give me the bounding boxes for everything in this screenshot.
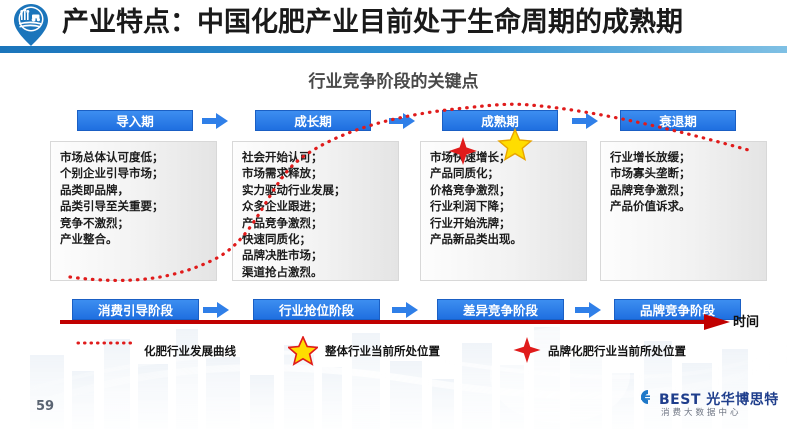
stage-arrow-1 bbox=[389, 113, 415, 129]
brand-subtitle: 消费大数据中心 bbox=[661, 406, 742, 418]
time-axis-arrow bbox=[60, 313, 732, 331]
slide-root: 产业特点：中国化肥产业目前处于生命周期的成熟期 bbox=[0, 0, 787, 429]
stage-top-1[interactable]: 成长期 bbox=[255, 110, 371, 131]
legend-red-sparkle-star-icon bbox=[512, 336, 542, 366]
stage-card-3: 行业增长放缓； 市场寡头垄断； 品牌竞争激烈； 产品价值诉求。 bbox=[600, 141, 767, 281]
farm-pin-logo-icon bbox=[8, 2, 54, 48]
stage-arrow-2 bbox=[572, 113, 598, 129]
slide-header: 产业特点：中国化肥产业目前处于生命周期的成熟期 bbox=[0, 0, 787, 46]
legend-label-0: 化肥行业发展曲线 bbox=[144, 343, 236, 359]
legend-label-2: 品牌化肥行业当前所处位置 bbox=[548, 343, 686, 359]
stage-top-2[interactable]: 成熟期 bbox=[442, 110, 558, 131]
stage-card-text-0: 市场总体认可度低； 个别企业引导市场； 品类即品牌， 品类引导至关重要； 竞争不… bbox=[60, 149, 210, 247]
stage-card-1: 社会开始认可； 市场需求释放； 实力驱动行业发展； 众多企业跟进； 产品竞争激烈… bbox=[232, 141, 399, 281]
chart-title: 行业竞争阶段的关键点 bbox=[0, 67, 787, 92]
best-mark-icon bbox=[635, 389, 659, 405]
stage-card-0: 市场总体认可度低； 个别企业引导市场； 品类即品牌， 品类引导至关重要； 竞争不… bbox=[50, 141, 217, 281]
header-divider bbox=[0, 46, 787, 53]
brand-logo: BEST 光华博思特 消费大数据中心 bbox=[635, 389, 777, 423]
page-number: 59 bbox=[36, 399, 54, 414]
page-title: 产业特点：中国化肥产业目前处于生命周期的成熟期 bbox=[62, 3, 683, 43]
legend-label-1: 整体行业当前所处位置 bbox=[325, 343, 440, 359]
stage-arrow-0 bbox=[202, 113, 228, 129]
stage-card-2: 市场快速增长； 产品同质化； 价格竞争激烈； 行业利润下降； 行业开始洗牌； 产… bbox=[420, 141, 587, 281]
time-axis-label: 时间 bbox=[733, 311, 759, 330]
stage-top-0[interactable]: 导入期 bbox=[77, 110, 193, 131]
slide-canvas: 行业竞争阶段的关键点 导入期 成长期 成熟期 衰退期 市场总体认可度低； 个别企… bbox=[0, 53, 787, 429]
legend-dotted-line-icon bbox=[76, 336, 136, 350]
stage-card-text-3: 行业增长放缓； 市场寡头垄断； 品牌竞争激烈； 产品价值诉求。 bbox=[610, 149, 760, 215]
stage-card-text-1: 社会开始认可； 市场需求释放； 实力驱动行业发展； 众多企业跟进； 产品竞争激烈… bbox=[242, 149, 392, 280]
stage-card-text-2: 市场快速增长； 产品同质化； 价格竞争激烈； 行业利润下降； 行业开始洗牌； 产… bbox=[430, 149, 580, 247]
stage-top-3[interactable]: 衰退期 bbox=[620, 110, 736, 131]
legend-yellow-star-icon bbox=[288, 336, 318, 366]
